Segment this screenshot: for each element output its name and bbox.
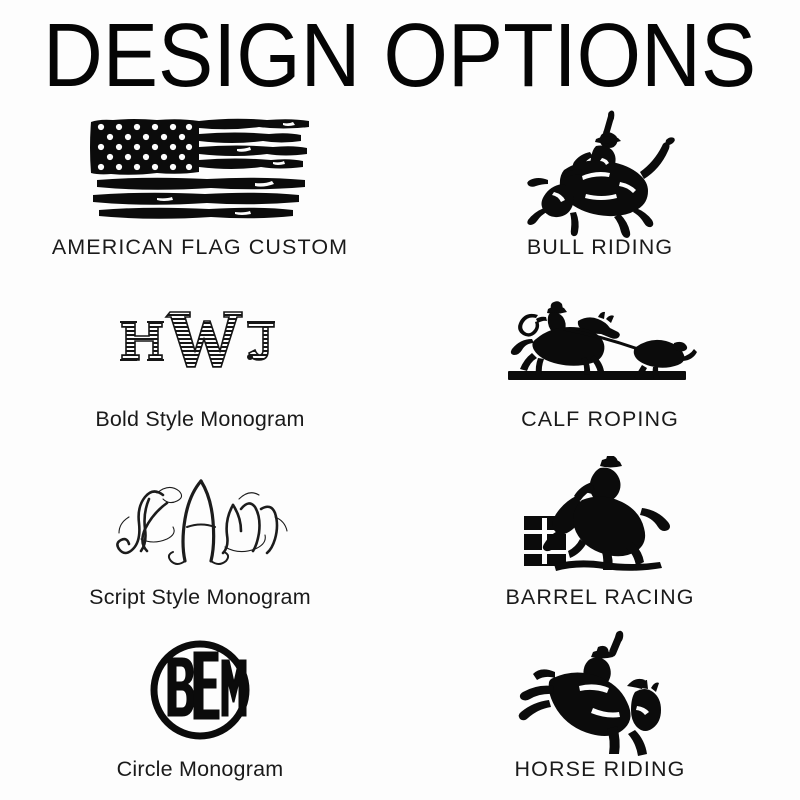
option-label: Bold Style Monogram xyxy=(95,406,304,432)
option-horse-riding[interactable]: HORSE RIDING xyxy=(400,626,800,800)
bold-monogram-icon xyxy=(0,282,400,400)
option-bull-riding[interactable]: BULL RIDING xyxy=(400,104,800,278)
option-label: BULL RIDING xyxy=(527,234,673,260)
option-label: HORSE RIDING xyxy=(515,756,686,782)
option-label: Circle Monogram xyxy=(117,756,284,782)
distressed-american-flag-icon xyxy=(0,108,400,228)
calf-roping-icon xyxy=(400,282,800,400)
circle-monogram-icon xyxy=(0,630,400,750)
option-label: AMERICAN FLAG CUSTOM xyxy=(52,234,348,260)
design-options-grid: AMERICAN FLAG CUSTOM xyxy=(0,104,800,800)
option-label: BARREL RACING xyxy=(505,584,694,610)
option-american-flag-custom[interactable]: AMERICAN FLAG CUSTOM xyxy=(0,104,400,278)
page-title: DESIGN OPTIONS xyxy=(43,11,756,101)
option-barrel-racing[interactable]: BARREL RACING xyxy=(400,452,800,626)
option-bold-style-monogram[interactable]: Bold Style Monogram xyxy=(0,278,400,452)
option-script-style-monogram[interactable]: Script Style Monogram xyxy=(0,452,400,626)
script-monogram-icon xyxy=(0,456,400,578)
design-options-page: DESIGN OPTIONS xyxy=(0,0,800,800)
option-circle-monogram[interactable]: Circle Monogram xyxy=(0,626,400,800)
option-label: Script Style Monogram xyxy=(89,584,311,610)
option-label: CALF ROPING xyxy=(521,406,679,432)
page-title-bar: DESIGN OPTIONS xyxy=(0,8,800,104)
bull-rider-icon xyxy=(400,108,800,228)
bronc-rider-icon xyxy=(400,630,800,750)
option-calf-roping-icon-cell[interactable]: CALF ROPING xyxy=(400,278,800,452)
barrel-racing-icon xyxy=(400,456,800,578)
